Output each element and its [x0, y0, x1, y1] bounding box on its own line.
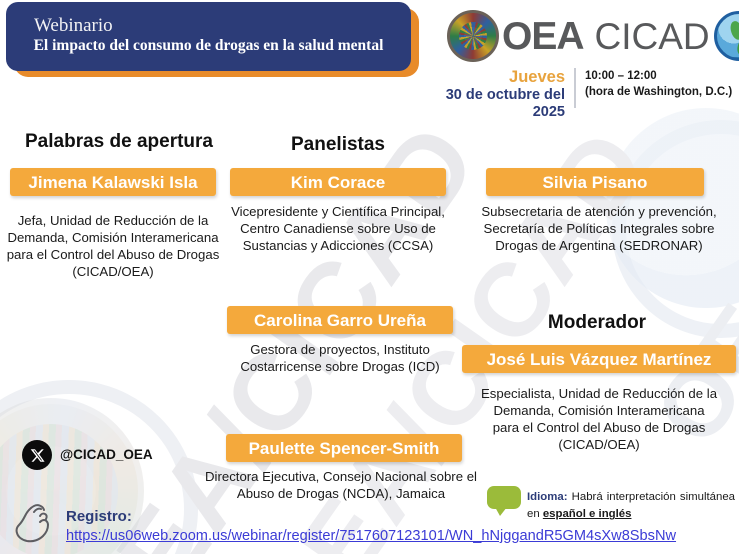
- oea-wordmark: OEA: [502, 17, 584, 56]
- event-day: Jueves: [414, 68, 565, 87]
- moderator-heading: Moderador: [488, 312, 706, 334]
- moderator-bio: Especialista, Unidad de Reducción de la …: [480, 385, 718, 454]
- panelist-bio-kim: Vicepresidente y Científica Principal, C…: [228, 203, 448, 254]
- speaker-name-bar-jimena: Jimena Kalawski Isla: [10, 168, 216, 196]
- time-block: 10:00 – 12:00 (hora de Washington, D.C.): [576, 68, 732, 101]
- panelist-name-bar-silvia: Silvia Pisano: [486, 168, 704, 196]
- registration-label: Registro:: [66, 508, 132, 525]
- speaker-name-jimena: Jimena Kalawski Isla: [28, 174, 197, 191]
- date-time-block: Jueves 30 de octubre del 2025 10:00 – 12…: [414, 68, 735, 112]
- panelist-name-silvia: Silvia Pisano: [543, 174, 648, 191]
- event-timezone: (hora de Washington, D.C.): [585, 84, 732, 100]
- x-handle-label: @CICAD_OEA: [60, 447, 153, 462]
- speech-bubble-icon: [487, 486, 523, 516]
- moderator-name: José Luis Vázquez Martínez: [487, 351, 712, 368]
- panelist-bio-paulette: Directora Ejecutiva, Consejo Nacional so…: [196, 468, 486, 502]
- language-note: Idioma: Habrá interpretación simultánea …: [527, 489, 735, 524]
- panelist-name-kim: Kim Corace: [291, 174, 385, 191]
- x-twitter-icon[interactable]: [22, 440, 52, 470]
- panelists-heading: Panelistas: [232, 134, 444, 156]
- panelist-name-carolina: Carolina Garro Ureña: [254, 312, 426, 329]
- opening-heading: Palabras de apertura: [8, 131, 230, 153]
- webinar-flyer: OEA/CICAD OEA/CICAD OEA/CICAD Webinario …: [0, 0, 739, 554]
- panelist-bio-silvia: Subsecretaria de atención y prevención, …: [480, 203, 718, 254]
- brand-logo-row: OEA CICAD: [447, 6, 735, 66]
- language-emphasis: español e inglés: [543, 508, 632, 520]
- date-left: Jueves 30 de octubre del 2025: [414, 68, 574, 120]
- oea-seal-icon: [447, 10, 499, 62]
- moderator-name-bar: José Luis Vázquez Martínez: [462, 345, 736, 373]
- cicad-wordmark: CICAD: [595, 18, 710, 55]
- panelist-name-bar-carolina: Carolina Garro Ureña: [227, 306, 453, 334]
- webinar-title: El impacto del consumo de drogas en la s…: [34, 37, 384, 55]
- panelist-name-bar-paulette: Paulette Spencer-Smith: [226, 434, 462, 462]
- event-date: 30 de octubre del 2025: [414, 87, 565, 121]
- speaker-bio-jimena: Jefa, Unidad de Reducción de la Demanda,…: [6, 212, 220, 281]
- registration-link[interactable]: https://us06web.zoom.us/webinar/register…: [66, 528, 676, 544]
- panelist-name-paulette: Paulette Spencer-Smith: [249, 440, 440, 457]
- pointing-hand-icon: [14, 498, 60, 548]
- cicad-globe-icon: [714, 11, 739, 61]
- panelist-name-bar-kim: Kim Corace: [230, 168, 446, 196]
- panelist-bio-carolina: Gestora de proyectos, Instituto Costarri…: [225, 341, 455, 375]
- event-time: 10:00 – 12:00: [585, 68, 732, 84]
- webinar-kicker: Webinario: [34, 16, 113, 36]
- language-label: Idioma:: [527, 491, 568, 503]
- title-banner: Webinario El impacto del consumo de drog…: [6, 2, 411, 71]
